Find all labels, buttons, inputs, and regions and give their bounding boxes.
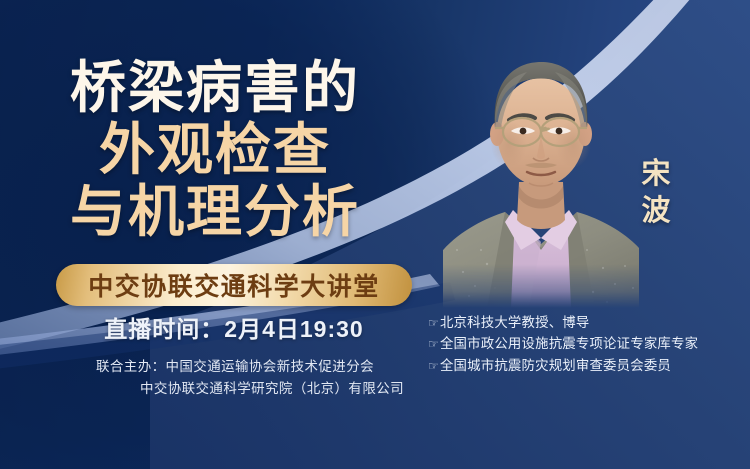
title-line-3: 与机理分析	[0, 184, 430, 240]
pointing-hand-icon: ☞	[428, 338, 439, 350]
speaker-portrait	[443, 36, 639, 308]
speaker-credentials: ☞ 北京科技大学教授、博导 ☞ 全国市政公用设施抗震专项论证专家库专家 ☞ 全国…	[428, 312, 746, 376]
credential-row: ☞ 全国城市抗震防灾规划审查委员会委员	[428, 355, 746, 376]
speaker-name-char-1: 宋	[634, 156, 678, 193]
main-title: 桥梁病害的 外观检查 与机理分析	[0, 60, 430, 246]
organizers: 联合主办：中国交通运输协会新技术促进分会 中交协联交通科学研究院（北京）有限公司	[0, 356, 470, 401]
pointing-hand-icon: ☞	[428, 360, 439, 372]
organizer-line-1: 联合主办：中国交通运输协会新技术促进分会	[0, 356, 470, 378]
webinar-poster: 桥梁病害的 外观检查 与机理分析 中交协联交通科学大讲堂 直播时间：2月4日19…	[0, 0, 750, 469]
series-banner-label: 中交协联交通科学大讲堂	[88, 267, 380, 303]
title-line-2: 外观检查	[0, 122, 430, 178]
credential-text: 全国市政公用设施抗震专项论证专家库专家	[440, 333, 698, 354]
credential-text: 北京科技大学教授、博导	[440, 312, 590, 333]
title-line-1: 桥梁病害的	[0, 60, 430, 116]
live-time: 直播时间：2月4日19:30	[0, 310, 468, 344]
speaker-name-char-2: 波	[634, 193, 678, 230]
credential-row: ☞ 北京科技大学教授、博导	[428, 312, 746, 333]
organizer-line-2: 中交协联交通科学研究院（北京）有限公司	[0, 378, 470, 400]
series-banner: 中交协联交通科学大讲堂	[56, 264, 412, 306]
credential-text: 全国城市抗震防灾规划审查委员会委员	[440, 355, 671, 376]
speaker-name: 宋 波	[634, 156, 678, 230]
pointing-hand-icon: ☞	[428, 317, 439, 329]
credential-row: ☞ 全国市政公用设施抗震专项论证专家库专家	[428, 333, 746, 354]
